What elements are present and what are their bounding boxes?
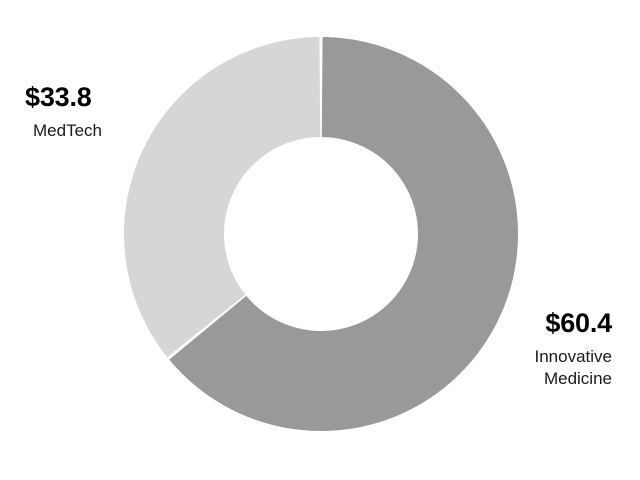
slice-value-medtech: $33.8 (25, 84, 102, 111)
slice-label-medtech: MedTech (33, 120, 102, 142)
donut-chart: $33.8 MedTech $60.4 Innovative Medicine (0, 0, 640, 480)
slice-value-innovative-medicine: $60.4 (535, 310, 613, 337)
donut-slice-medtech[interactable] (124, 37, 320, 357)
slice-callout-innovative-medicine: $60.4 Innovative Medicine (535, 310, 613, 390)
donut-chart-svg (0, 0, 640, 480)
slice-label-innovative-medicine-line-1: Innovative (535, 346, 613, 368)
slice-label-medtech-line-1: MedTech (33, 120, 102, 142)
slice-label-innovative-medicine-line-2: Medicine (535, 368, 613, 390)
slice-callout-medtech: $33.8 MedTech (25, 84, 102, 142)
slice-label-innovative-medicine: Innovative Medicine (535, 346, 613, 390)
donut-slices (124, 37, 518, 431)
